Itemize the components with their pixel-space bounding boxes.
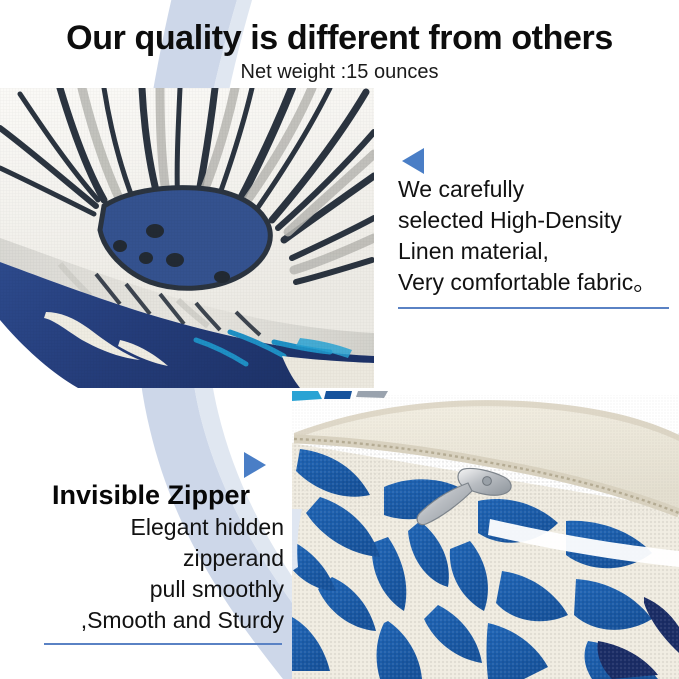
callout-zipper: Invisible Zipper Elegant hidden zipperan… [22,452,284,645]
callout-material-underline [398,307,669,309]
header: Our quality is different from others Net… [0,0,679,88]
callout-zipper-line-1: Elegant hidden [22,512,284,543]
callout-zipper-heading: Invisible Zipper [22,478,284,512]
fabric-photo [0,88,374,388]
callout-material-line-4: Very comfortable fabric。 [398,267,670,298]
callout-zipper-line-4: ,Smooth and Sturdy [22,605,284,636]
callout-material-line-3: Linen material, [398,236,670,267]
callout-material: We carefully selected High-Density Linen… [398,148,670,309]
product-feature-infographic: Our quality is different from others Net… [0,0,679,679]
zipper-photo-illustration [292,391,679,679]
callout-zipper-underline [44,643,282,645]
callout-material-line-2: selected High-Density [398,205,670,236]
zipper-photo [292,391,679,679]
triangle-left-icon [402,148,424,174]
page-title: Our quality is different from others [0,18,679,58]
callout-zipper-line-3: pull smoothly [22,574,284,605]
callout-zipper-line-2: zipperand [22,543,284,574]
triangle-right-icon [244,452,266,478]
net-weight-label: Net weight :15 ounces [0,60,679,84]
fabric-photo-illustration [0,88,374,388]
callout-material-line-1: We carefully [398,174,670,205]
